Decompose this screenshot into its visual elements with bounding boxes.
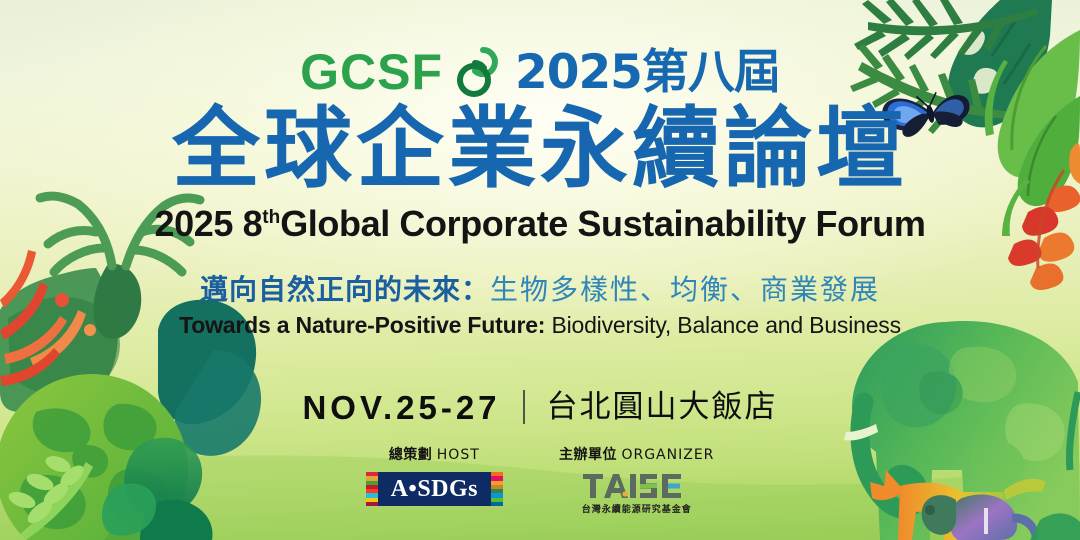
- event-date: NOV.25-27: [302, 391, 500, 424]
- theme-chinese-lead: 邁向自然正向的未來：: [200, 273, 490, 306]
- event-venue: 台北圓山大飯店: [547, 392, 778, 423]
- brand-row: GCSF 2025第八屆: [0, 44, 1080, 100]
- host-label-ch: 總策劃: [389, 447, 433, 463]
- sdg-color-bars-left: [366, 472, 378, 506]
- theme-english-detail: Biodiversity, Balance and Business: [545, 312, 901, 338]
- theme-english-lead: Towards a Nature-Positive Future:: [179, 312, 545, 338]
- gcsf-interlocking-rings-icon: [453, 44, 505, 100]
- taise-logo-subtitle: 台灣永續能源研究基金會: [582, 502, 692, 515]
- title-en-year: 2025 8: [155, 203, 263, 244]
- divider: [523, 390, 525, 424]
- sponsors-row: 總策劃 HOST A•SDGs: [0, 448, 1080, 515]
- taise-logo[interactable]: 台灣永續能源研究基金會: [582, 472, 692, 515]
- title-en-ordinal: th: [262, 207, 280, 228]
- theme-chinese-detail: 生物多樣性、均衡、商業發展: [490, 273, 880, 306]
- edition-label: 2025第八屆: [515, 49, 780, 96]
- organizer-label: 主辦單位 ORGANIZER: [559, 448, 714, 462]
- organizer-label-en: ORGANIZER: [621, 447, 714, 463]
- host-label-en: HOST: [437, 447, 480, 463]
- date-venue-row: NOV.25-27 台北圓山大飯店: [0, 390, 1080, 424]
- host-block: 總策劃 HOST A•SDGs: [366, 448, 503, 506]
- page-title-chinese: 全球企業永續論壇: [0, 104, 1080, 194]
- host-label: 總策劃 HOST: [389, 448, 480, 462]
- asdgs-logo[interactable]: A•SDGs: [366, 472, 503, 506]
- theme-english: Towards a Nature-Positive Future: Biodiv…: [0, 314, 1080, 337]
- gcsf-wordmark: GCSF: [300, 47, 443, 97]
- poster-content: GCSF 2025第八屆 全球企業永續論壇 2025 8thGlobal Cor…: [0, 0, 1080, 540]
- organizer-label-ch: 主辦單位: [559, 447, 617, 463]
- page-title-english: 2025 8thGlobal Corporate Sustainability …: [0, 206, 1080, 242]
- organizer-block: 主辦單位 ORGANIZER: [559, 448, 714, 515]
- conference-poster: GCSF 2025第八屆 全球企業永續論壇 2025 8thGlobal Cor…: [0, 0, 1080, 540]
- theme-chinese: 邁向自然正向的未來：生物多樣性、均衡、商業發展: [0, 276, 1080, 304]
- title-en-rest: Global Corporate Sustainability Forum: [280, 203, 925, 244]
- asdgs-logo-text: A•SDGs: [378, 472, 491, 506]
- taise-wordmark-icon: [582, 472, 692, 500]
- sdg-color-bars-right: [491, 472, 503, 506]
